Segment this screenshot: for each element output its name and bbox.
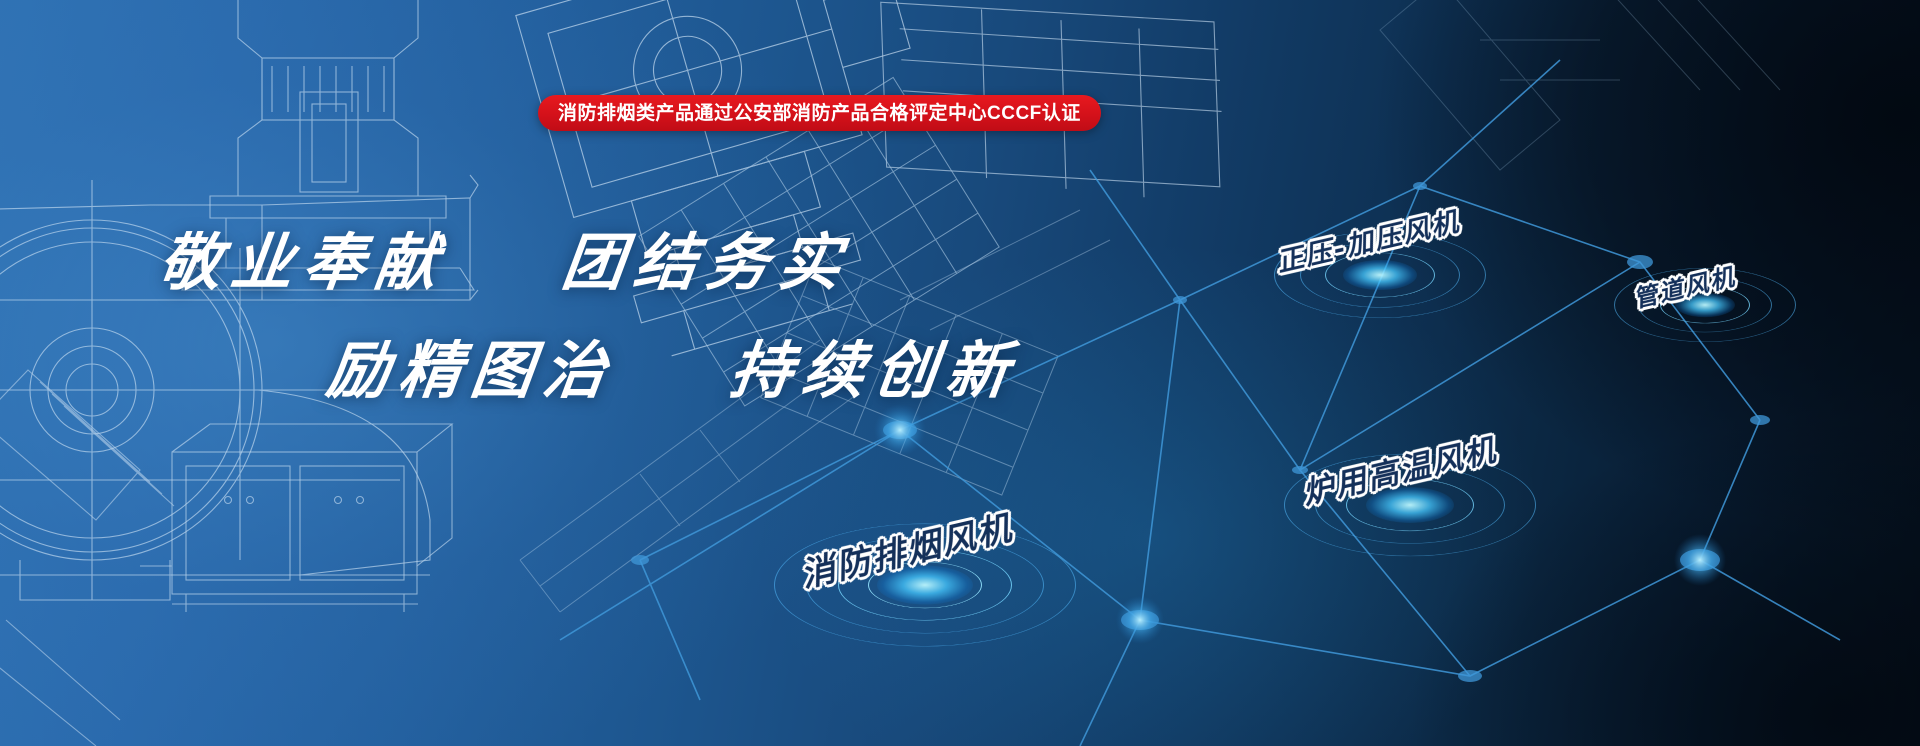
product-hotspot-duct-fan[interactable]: 管道风机 bbox=[1590, 250, 1820, 360]
slogan-phrase-3: 励精图治 bbox=[323, 334, 620, 407]
slogan-block: 敬业奉献 团结务实 励精图治 持续创新 bbox=[150, 212, 910, 410]
hero-banner: 消防排烟类产品通过公安部消防产品合格评定中心CCCF认证 敬业奉献 团结务实 励… bbox=[0, 0, 1920, 746]
slogan-line-2: 励精图治 持续创新 bbox=[144, 320, 915, 410]
product-hotspot-furnace-high-temp-fan[interactable]: 炉用高温风机 bbox=[1260, 430, 1560, 580]
certification-banner-text: 消防排烟类产品通过公安部消防产品合格评定中心CCCF认证 bbox=[558, 104, 1081, 123]
slogan-phrase-1: 敬业奉献 bbox=[155, 226, 452, 299]
certification-banner: 消防排烟类产品通过公安部消防产品合格评定中心CCCF认证 bbox=[538, 95, 1101, 131]
product-hotspot-smoke-exhaust-fan[interactable]: 消防排烟风机 bbox=[760, 500, 1090, 670]
slogan-line-1: 敬业奉献 团结务实 bbox=[144, 212, 915, 302]
product-hotspot-positive-pressure-fan[interactable]: 正压-加压风机 bbox=[1250, 210, 1510, 340]
slogan-phrase-2: 团结务实 bbox=[558, 226, 855, 299]
slogan-phrase-4: 持续创新 bbox=[726, 334, 1023, 407]
